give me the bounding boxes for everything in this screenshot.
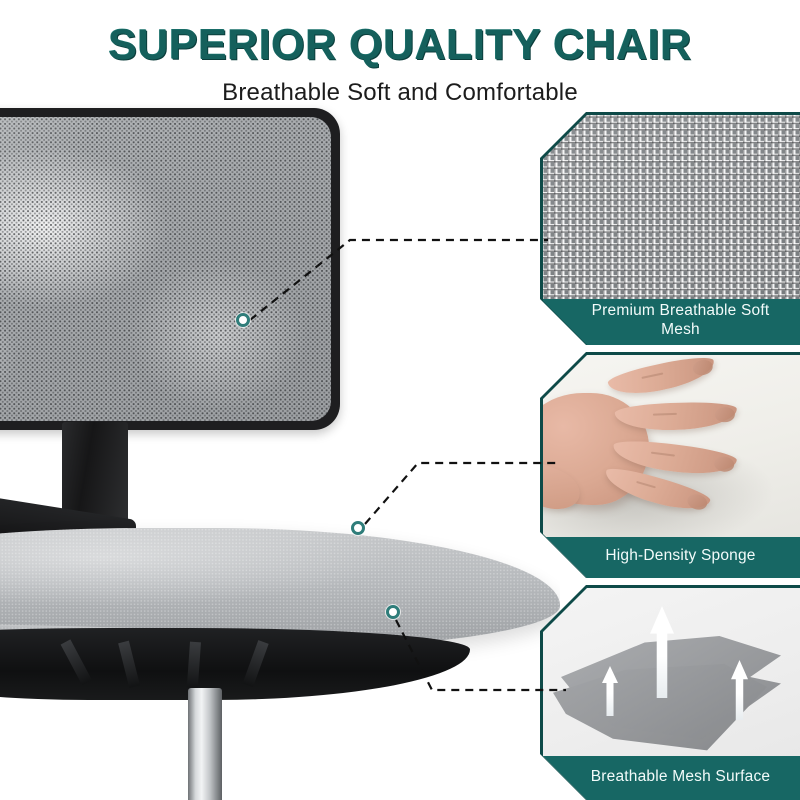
knuckle-crease [641,372,663,379]
fingernail [713,455,735,472]
hand-graphic [543,357,749,525]
hotspot-marker-airflow[interactable] [386,605,400,619]
page-subtitle: Breathable Soft and Comfortable [0,67,800,107]
backrest-highlight [0,117,331,421]
chair-backrest-frame [0,108,340,430]
knuckle-crease [636,481,656,488]
feature-panel-premium-mesh[interactable]: Premium Breathable Soft Mesh [540,112,800,345]
knuckle-crease [651,452,675,457]
fingernail [715,407,736,423]
feature-panel-breathable-mesh-surface[interactable]: Breathable Mesh Surface [540,585,800,800]
panel-caption-high-density-sponge: High-Density Sponge [543,537,800,578]
hand-finger [606,355,717,401]
infographic-header: SUPERIOR QUALITY CHAIR Breathable Soft a… [0,0,800,112]
page-title: SUPERIOR QUALITY CHAIR [0,0,800,67]
hotspot-marker-sponge[interactable] [351,521,365,535]
chair-backrest-mesh [0,117,331,421]
panel-body: High-Density Sponge [543,355,800,578]
hotspot-marker-mesh[interactable] [236,313,250,327]
fingernail [691,358,714,377]
panel-caption-breathable-mesh-surface: Breathable Mesh Surface [543,756,800,800]
panel-caption-premium-mesh: Premium Breathable Soft Mesh [543,299,800,345]
product-photo-office-chair [0,100,560,800]
knuckle-crease [653,413,677,416]
panel-body: Breathable Mesh Surface [543,588,800,800]
feature-panel-high-density-sponge[interactable]: High-Density Sponge [540,352,800,578]
chair-gas-cylinder [188,688,222,800]
panel-body: Premium Breathable Soft Mesh [543,115,800,345]
fingernail [686,492,709,512]
